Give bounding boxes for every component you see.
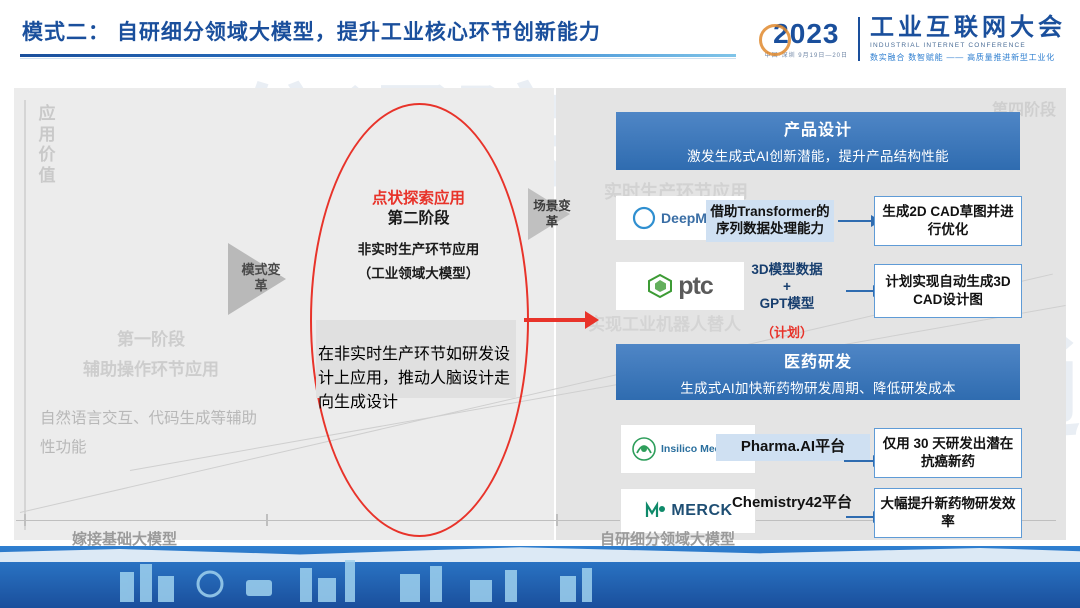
- logo-main-title: 工业互联网大会: [870, 15, 1066, 40]
- product-row-2-mid-label: 3D模型数据 + GPT模型: [732, 262, 842, 313]
- stage-one-detail: 自然语言交互、代码生成等辅助性功能: [40, 404, 270, 463]
- axis-tick-2: [556, 514, 558, 526]
- watermark-robot-text: 实现工业机器人替人: [588, 310, 741, 335]
- pharma-row-2-output-text: 大幅提升新药物研发效率: [875, 495, 1021, 530]
- product-row-1-output-text: 生成2D CAD草图并进行优化: [875, 203, 1021, 238]
- pharma-row-1-arrow-icon: [844, 460, 874, 462]
- group-product-design-banner: 产品设计 激发生成式AI创新潜能，提升产品结构性能: [616, 112, 1020, 170]
- insilico-mark-icon: [631, 436, 657, 462]
- logo-divider: [858, 17, 860, 61]
- pharma-row-1-output: 仅用 30 天研发出潜在抗癌新药: [874, 428, 1022, 478]
- pharma-row-2-output: 大幅提升新药物研发效率: [874, 488, 1022, 538]
- mode-change-label: 模式变革: [236, 262, 286, 295]
- logo-english-title: INDUSTRIAL INTERNET CONFERENCE: [870, 42, 1066, 49]
- stage-two-line2: （工业领域大模型）: [316, 262, 521, 282]
- product-row-2-mid-note: （计划）: [742, 322, 832, 341]
- group-product-design-title: 产品设计: [616, 112, 1020, 140]
- value-axis-label: 应用价值: [36, 104, 58, 187]
- group-product-design-subtitle: 激发生成式AI创新潜能，提升产品结构性能: [616, 140, 1020, 165]
- slide-root: 模式二： 自研细分领域大模型，提升工业核心环节创新能力 2023 中国·深圳 9…: [0, 0, 1080, 608]
- axis-tick-0: [24, 514, 26, 526]
- stage-two-note-wrap: 在非实时生产环节如研发设计上应用，推动人脑设计走向生成设计: [318, 324, 516, 428]
- title-underline: [20, 54, 736, 57]
- product-row-2-arrow-icon: [846, 290, 874, 292]
- merck-mark-icon: [643, 499, 667, 523]
- stage-two-line1: 非实时生产环节应用: [316, 238, 521, 258]
- group-pharma-banner: 医药研发 生成式AI加快新药物研发周期、降低研发成本: [616, 344, 1020, 400]
- product-row-2-output-text: 计划实现自动生成3D CAD设计图: [875, 273, 1021, 308]
- page-title: 模式二： 自研细分领域大模型，提升工业核心环节创新能力: [22, 16, 601, 46]
- pharma-row-2-mid-label: Chemistry42平台: [716, 494, 868, 513]
- ptc-logo-text: ptc: [678, 272, 713, 301]
- ptc-mark-icon: [647, 273, 673, 299]
- pharma-row-2-arrow-icon: [846, 516, 874, 518]
- conference-logo: 2023 中国·深圳 9月19日—20日 工业互联网大会 INDUSTRIAL …: [765, 8, 1066, 70]
- group-pharma-title: 医药研发: [616, 344, 1020, 372]
- product-row-1-output: 生成2D CAD草图并进行优化: [874, 196, 1022, 246]
- product-row-1-arrow-icon: [838, 220, 872, 222]
- spot-exploration-label: 点状探索应用: [326, 186, 511, 208]
- title-underline-secondary: [20, 58, 736, 59]
- ptc-logo: ptc: [616, 262, 744, 310]
- value-axis-line: [24, 100, 26, 530]
- logo-ring-icon: [759, 24, 791, 56]
- scene-change-label: 场景变革: [531, 198, 573, 231]
- pharma-row-1-mid-label: Pharma.AI平台: [716, 434, 870, 461]
- ribbon-city-icon: [0, 550, 1080, 606]
- stage-two-label: 第二阶段: [326, 206, 511, 228]
- product-row-2-output: 计划实现自动生成3D CAD设计图: [874, 264, 1022, 318]
- logo-tagline: 数实融合 数智赋能 —— 高质量推进新型工业化: [870, 52, 1066, 63]
- stage-one-label: 第一阶段: [76, 325, 226, 350]
- stage-one-sub: 辅助操作环节应用: [46, 355, 256, 380]
- bottom-ribbon: [0, 546, 1080, 608]
- group-pharma-subtitle: 生成式AI加快新药物研发周期、降低研发成本: [616, 372, 1020, 397]
- pharma-row-1-output-text: 仅用 30 天研发出潜在抗癌新药: [875, 435, 1021, 470]
- axis-tick-1: [266, 514, 268, 526]
- slide-header: 模式二： 自研细分领域大模型，提升工业核心环节创新能力 2023 中国·深圳 9…: [0, 0, 1080, 78]
- stage-two-note: 在非实时生产环节如研发设计上应用，推动人脑设计走向生成设计: [318, 340, 516, 412]
- red-transition-arrow-icon: [524, 318, 586, 322]
- product-row-1-mid-label: 借助Transformer的序列数据处理能力: [706, 200, 834, 242]
- deepmind-mark-icon: [632, 206, 656, 230]
